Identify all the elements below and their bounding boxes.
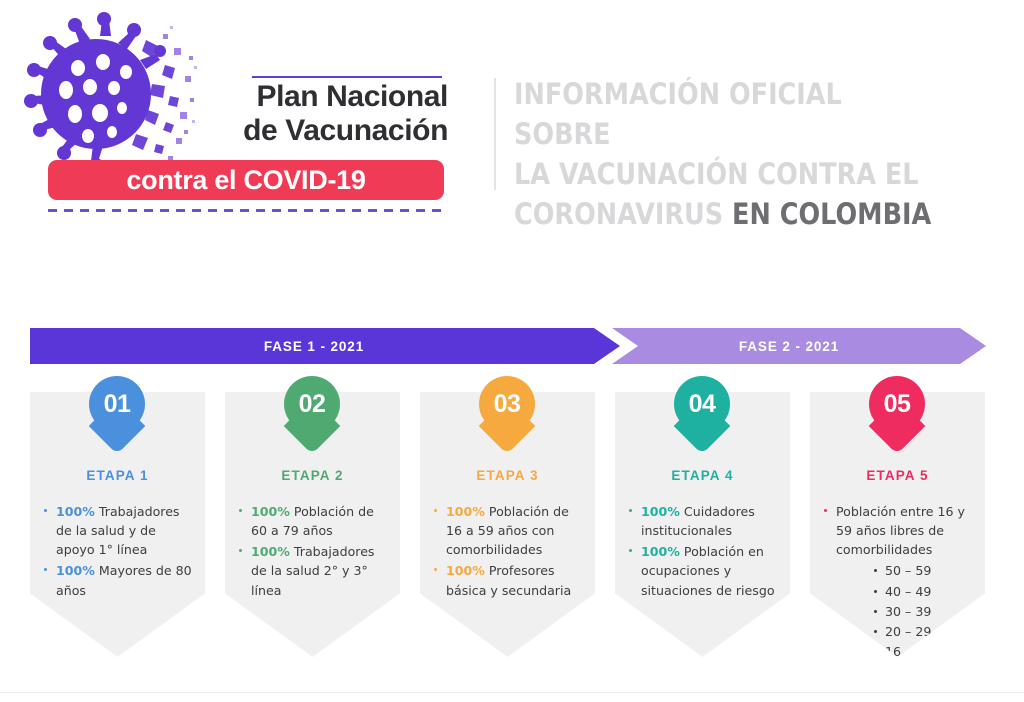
bullet-percent: 100% [641,544,680,559]
stage-number: 04 [674,376,730,432]
stage-card-row: ETAPA 1100% Trabajadores de la salud y d… [0,376,1024,666]
stage-label: ETAPA 5 [810,468,985,483]
header-divider [494,78,496,190]
logo-dashed-rule [48,209,446,212]
phase-banner-2-label: FASE 2 - 2021 [739,339,839,354]
age-range-item: 20 – 29 [874,622,976,642]
stage-number: 03 [479,376,535,432]
bullet-dot-icon [44,568,47,571]
stage-number: 01 [89,376,145,432]
covid-badge: contra el COVID-19 [48,160,444,200]
stage-pin-marker: 05 [869,376,925,444]
bullet-dot-icon [239,549,242,552]
stage-bullet-list: 100% Población de 60 a 79 años100% Traba… [239,502,391,602]
stage-number: 02 [284,376,340,432]
bullet-dot-icon [434,568,437,571]
bullet-dot-icon [824,509,827,512]
age-range-item: 16 – 19 [874,642,976,662]
header: Plan Nacional de Vacunación contra el CO… [0,0,1024,230]
header-title-line3-plain: CORONAVIRUS [514,197,732,231]
sub-bullet-dot-icon [874,610,877,613]
bullet-dot-icon [434,509,437,512]
header-title-line1: INFORMACIÓN OFICIAL SOBRE [514,74,936,154]
bullet-text: Población entre 16 y 59 años libres de c… [836,504,965,557]
stage-pin-marker: 02 [284,376,340,444]
stage-bullet-item: 100% Trabajadores de la salud 2° y 3° lí… [239,542,391,599]
stage-label: ETAPA 2 [225,468,400,483]
stage-bullet-item: 100% Población de 16 a 59 años con comor… [434,502,586,559]
age-range-item: 50 – 59 [874,561,976,581]
bullet-percent: 100% [641,504,680,519]
stage-bullet-item: 100% Población de 60 a 79 años [239,502,391,540]
sub-bullet-dot-icon [874,590,877,593]
phase-banner-1: FASE 1 - 2021 [30,328,620,364]
stage-number: 05 [869,376,925,432]
bullet-percent: 100% [446,563,485,578]
stage-bullet-list: 100% Cuidadores institucionales100% Pobl… [629,502,781,602]
age-range-item: 30 – 39 [874,602,976,622]
sub-bullet-dot-icon [874,569,877,572]
bullet-dot-icon [44,509,47,512]
phase-banner-row: FASE 1 - 2021 FASE 2 - 2021 [0,328,1024,364]
header-title-line3: CORONAVIRUS EN COLOMBIA [514,194,936,234]
covid-badge-label: contra el COVID-19 [126,165,365,196]
header-title-line2: LA VACUNACIÓN CONTRA EL [514,154,936,194]
header-title-line3-strong: EN COLOMBIA [732,197,931,231]
bullet-dot-icon [239,509,242,512]
stage-bullet-list: 100% Población de 16 a 59 años con comor… [434,502,586,602]
stage-bullet-item: 100% Mayores de 80 años [44,561,196,599]
footer-rule [0,692,1024,693]
bullet-percent: 100% [56,504,95,519]
plan-nacional-logo: Plan Nacional de Vacunación contra el CO… [18,8,458,208]
stage-bullet-item: 100% Cuidadores institucionales [629,502,781,540]
phase-banner-2: FASE 2 - 2021 [612,328,986,364]
logo-title: Plan Nacional de Vacunación [168,80,448,147]
bullet-dot-icon [629,509,632,512]
stage-bullet-item: 100% Trabajadores de la salud y de apoyo… [44,502,196,559]
logo-title-line2: de Vacunación [168,114,448,148]
stage-bullet-list: Población entre 16 y 59 años libres de c… [824,502,976,664]
infographic-page: Plan Nacional de Vacunación contra el CO… [0,0,1024,702]
stage-label: ETAPA 3 [420,468,595,483]
logo-title-line1: Plan Nacional [168,80,448,114]
logo-underline [252,76,442,78]
stage-pin-marker: 03 [479,376,535,444]
stage-pin-marker: 01 [89,376,145,444]
stage-age-range-sublist: 50 – 5940 – 4930 – 3920 – 2916 – 19 [836,561,976,662]
age-range-item: 40 – 49 [874,582,976,602]
bullet-dot-icon [629,549,632,552]
sub-bullet-dot-icon [874,630,877,633]
stage-bullet-list: 100% Trabajadores de la salud y de apoyo… [44,502,196,602]
header-title: INFORMACIÓN OFICIAL SOBRE LA VACUNACIÓN … [514,74,936,234]
stage-bullet-item: 100% Población en ocupaciones y situacio… [629,542,781,599]
bullet-percent: 100% [251,504,290,519]
stage-bullet-item: Población entre 16 y 59 años libres de c… [824,502,976,662]
bullet-percent: 100% [56,563,95,578]
bullet-percent: 100% [446,504,485,519]
stage-pin-marker: 04 [674,376,730,444]
stage-bullet-item: 100% Profesores básica y secundaria [434,561,586,599]
bullet-percent: 100% [251,544,290,559]
sub-bullet-dot-icon [874,650,877,653]
stage-label: ETAPA 1 [30,468,205,483]
phase-banner-1-label: FASE 1 - 2021 [264,339,364,354]
stage-label: ETAPA 4 [615,468,790,483]
